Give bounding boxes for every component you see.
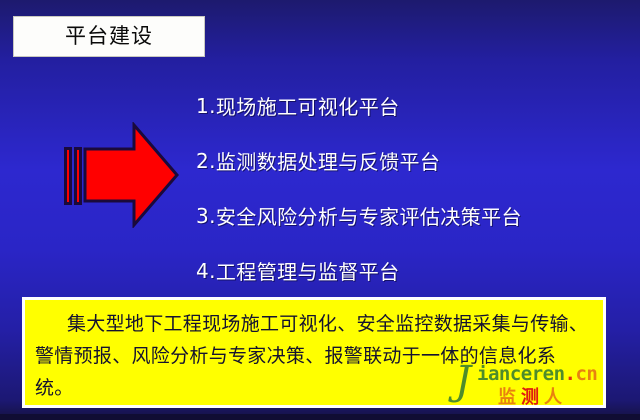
list-item: 1.现场施工可视化平台 <box>196 78 626 133</box>
summary-callout: 集大型地下工程现场施工可视化、安全监控数据采集与传输、警情预报、风险分析与专家决… <box>22 297 606 408</box>
list-item-label: 工程管理与监督平台 <box>216 256 400 285</box>
slide-canvas: 平台建设 1.现场施工可视化平台 2.监测数据处理与反馈平台 3.安全风险分析与… <box>0 0 640 420</box>
list-item-marker: 3. <box>196 204 216 228</box>
list-item: 2.监测数据处理与反馈平台 <box>196 133 626 188</box>
list-item: 4.工程管理与监督平台 <box>196 243 626 298</box>
list-item-label: 现场施工可视化平台 <box>216 91 400 120</box>
list-item-marker: 2. <box>196 149 216 173</box>
list-item-label: 监测数据处理与反馈平台 <box>216 146 440 175</box>
list-item-label: 安全风险分析与专家评估决策平台 <box>216 201 522 230</box>
bottom-edge-strip <box>0 414 640 420</box>
list-item-marker: 4. <box>196 259 216 283</box>
list-item: 3.安全风险分析与专家评估决策平台 <box>196 188 626 243</box>
slide-title-box: 平台建设 <box>13 16 205 57</box>
list-item-marker: 1. <box>196 94 216 118</box>
summary-text: 集大型地下工程现场施工可视化、安全监控数据采集与传输、警情预报、风险分析与专家决… <box>35 308 593 404</box>
right-arrow-icon <box>64 122 180 228</box>
page-title: 平台建设 <box>65 26 153 47</box>
platform-list: 1.现场施工可视化平台 2.监测数据处理与反馈平台 3.安全风险分析与专家评估决… <box>196 78 626 298</box>
